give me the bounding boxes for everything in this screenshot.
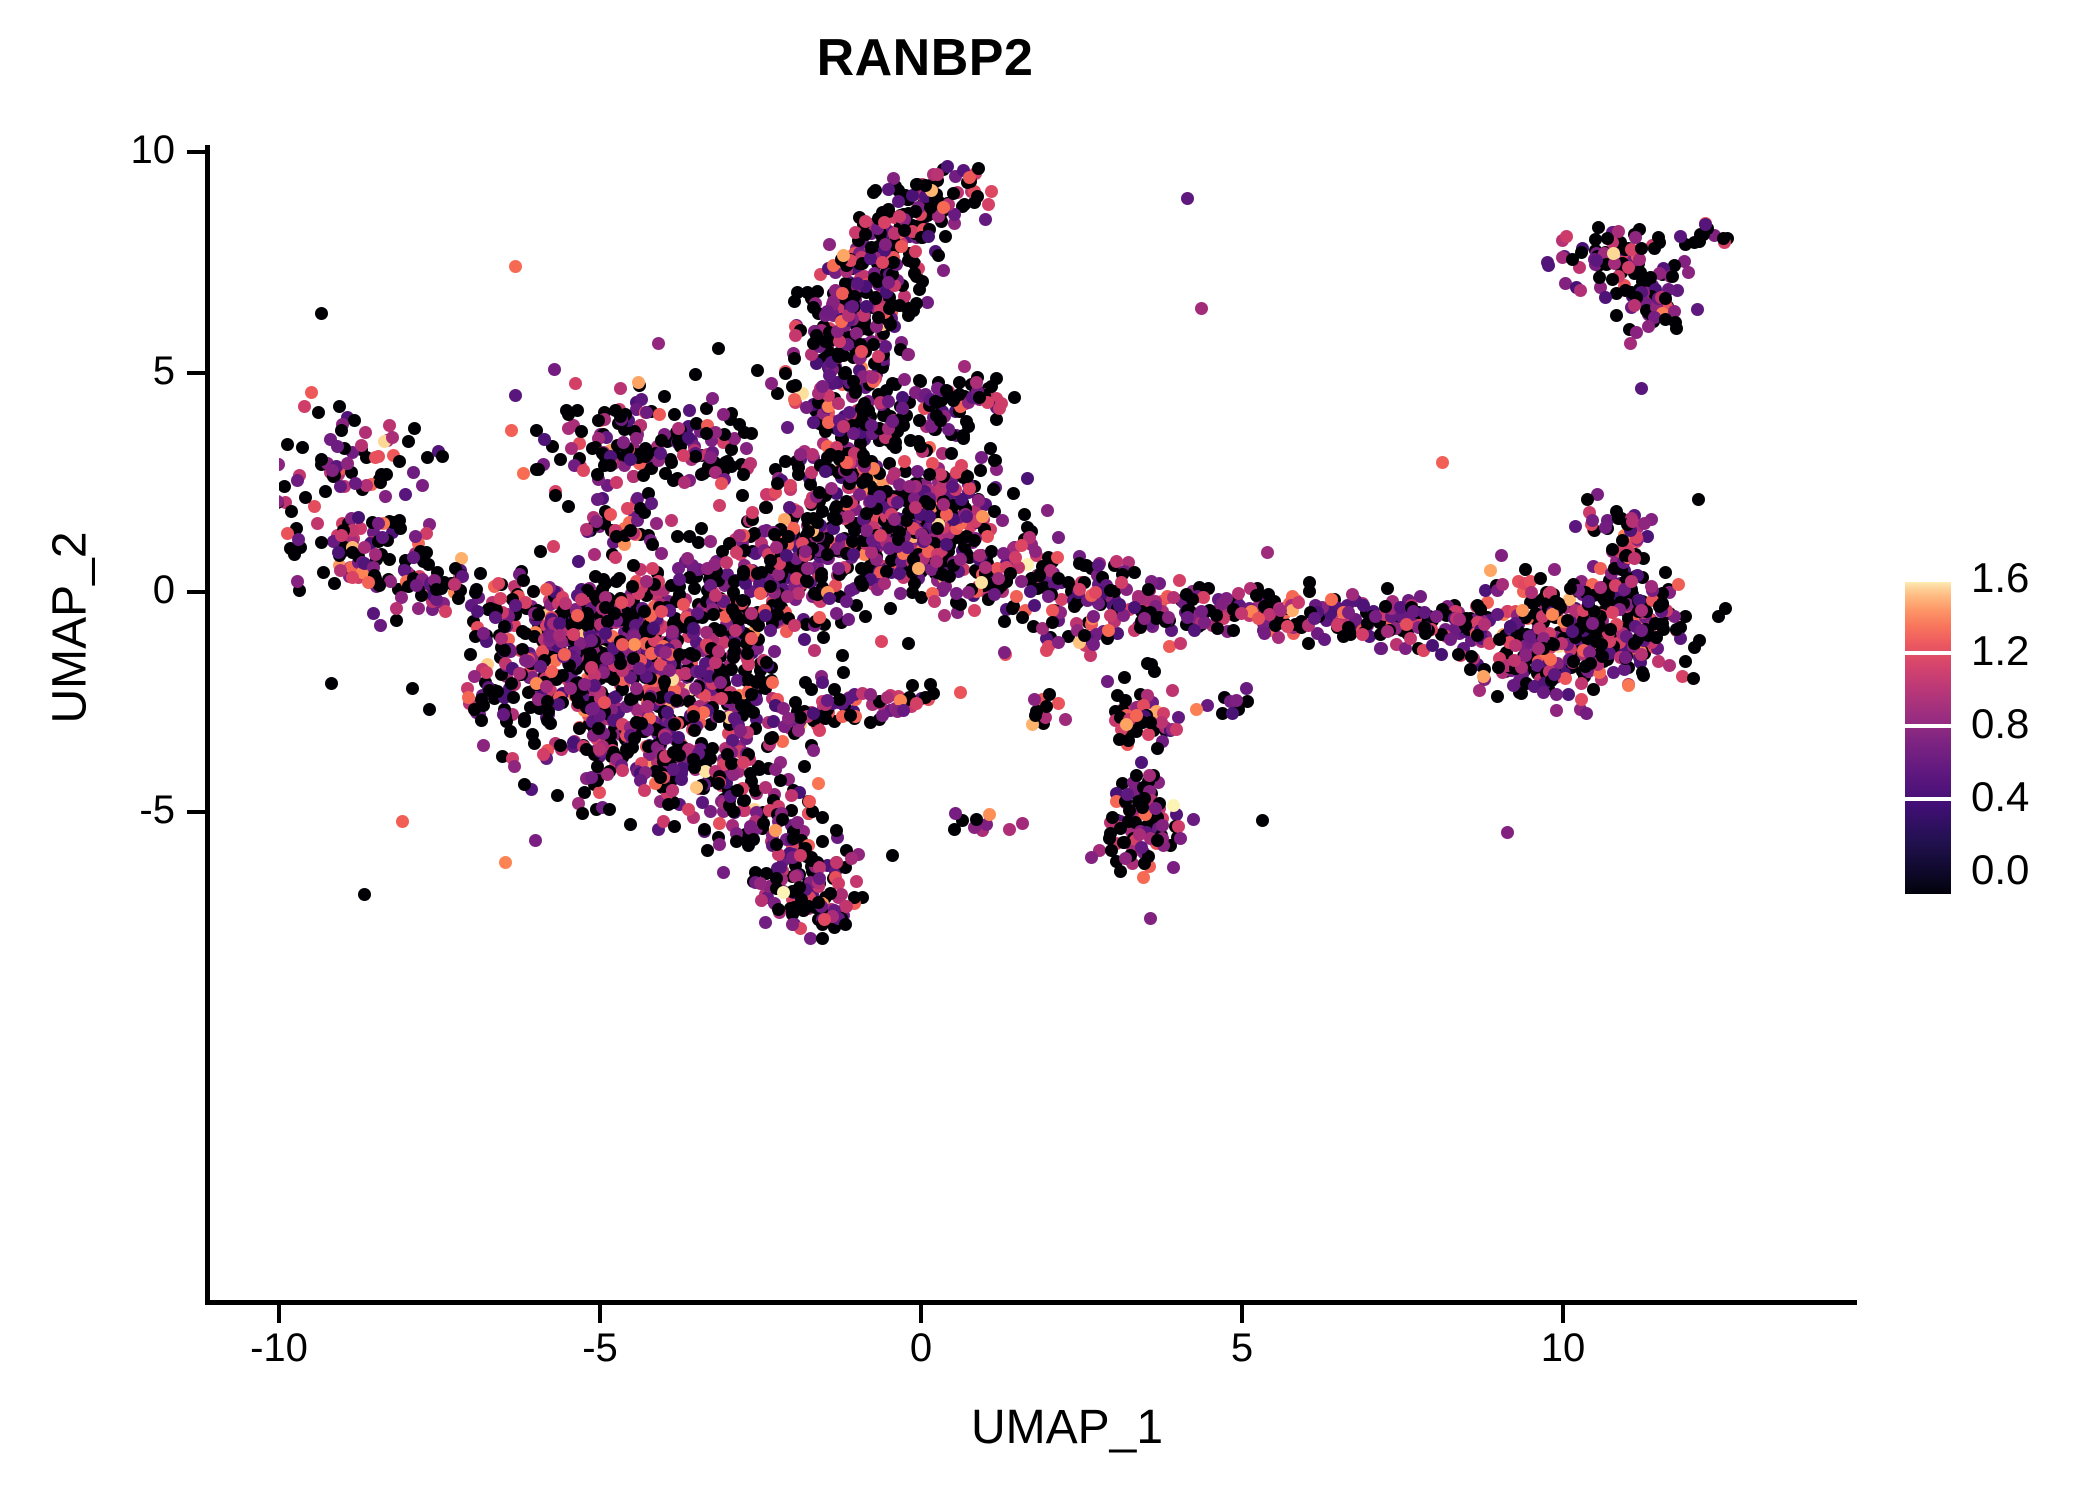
scatter-point (655, 605, 668, 618)
scatter-point (781, 421, 794, 434)
scatter-point (591, 493, 604, 506)
scatter-point (647, 622, 660, 635)
colorbar-label-1_6: 1.6 (1971, 554, 2029, 602)
scatter-point (830, 607, 843, 620)
scatter-point (1135, 756, 1148, 769)
scatter-point (690, 781, 703, 794)
scatter-point (335, 424, 348, 437)
scatter-point (315, 307, 328, 320)
scatter-point (372, 517, 385, 530)
scatter-point (919, 179, 932, 192)
scatter-point (661, 706, 674, 719)
scatter-point (957, 432, 970, 445)
scatter-point (798, 633, 811, 646)
scatter-point (937, 498, 950, 511)
scatter-point (993, 402, 1006, 415)
scatter-point (1130, 769, 1143, 782)
scatter-point (1292, 596, 1305, 609)
scatter-point (979, 561, 992, 574)
scatter-point (984, 442, 997, 455)
scatter-point (1173, 574, 1186, 587)
scatter-point (737, 568, 750, 581)
scatter-point (562, 422, 575, 435)
scatter-point (1156, 819, 1169, 832)
scatter-point (845, 852, 858, 865)
scatter-point (864, 716, 877, 729)
scatter-point (532, 463, 545, 476)
scatter-point (860, 524, 873, 537)
scatter-point (1692, 493, 1705, 506)
scatter-point (1115, 576, 1128, 589)
scatter-point (902, 348, 915, 361)
scatter-point (1495, 549, 1508, 562)
scatter-point (1663, 659, 1676, 672)
scatter-point (813, 724, 826, 737)
scatter-point (1548, 668, 1561, 681)
scatter-point (1008, 391, 1021, 404)
scatter-point (1624, 337, 1637, 350)
scatter-point (562, 500, 575, 513)
scatter-point (653, 408, 666, 421)
scatter-point (876, 256, 889, 269)
scatter-point (519, 627, 532, 640)
scatter-plot-area (279, 145, 1855, 1302)
scatter-point (1644, 271, 1657, 284)
scatter-point (348, 414, 361, 427)
scatter-point (1181, 611, 1194, 624)
scatter-point (812, 777, 825, 790)
scatter-point (1357, 599, 1370, 612)
scatter-point (821, 694, 834, 707)
scatter-point (390, 614, 403, 627)
scatter-point (923, 468, 936, 481)
scatter-point (436, 450, 449, 463)
scatter-point (753, 673, 766, 686)
scatter-point (591, 468, 604, 481)
scatter-point (755, 894, 768, 907)
scatter-point (312, 406, 325, 419)
scatter-point (1590, 254, 1603, 267)
scatter-point (1628, 299, 1641, 312)
scatter-point (627, 559, 640, 572)
scatter-point (939, 230, 952, 243)
scatter-point (575, 593, 588, 606)
scatter-point (793, 881, 806, 894)
scatter-point (317, 566, 330, 579)
scatter-point (416, 479, 429, 492)
scatter-point (518, 778, 531, 791)
scatter-point (869, 184, 882, 197)
scatter-point (624, 818, 637, 831)
scatter-point (777, 702, 790, 715)
scatter-point (898, 373, 911, 386)
scatter-point (1226, 707, 1239, 720)
scatter-point (1567, 655, 1580, 668)
scatter-point (668, 820, 681, 833)
scatter-point (983, 808, 996, 821)
scatter-point (1542, 259, 1555, 272)
scatter-point (788, 352, 801, 365)
scatter-point (567, 628, 580, 641)
scatter-point (794, 448, 807, 461)
scatter-point (462, 691, 475, 704)
scatter-point (1659, 566, 1672, 579)
scatter-point (1659, 292, 1672, 305)
scatter-point (1128, 566, 1141, 579)
scatter-point (1133, 828, 1146, 841)
scatter-point (1418, 606, 1431, 619)
scatter-point (974, 464, 987, 477)
scatter-point (783, 501, 796, 514)
scatter-point (972, 162, 985, 175)
scatter-point (1274, 604, 1287, 617)
scatter-point (659, 732, 672, 745)
scatter-point (328, 577, 341, 590)
scatter-point (475, 714, 488, 727)
scatter-point (839, 366, 852, 379)
scatter-point (1679, 655, 1692, 668)
scatter-point (819, 335, 832, 348)
colorbar-label-0_8: 0.8 (1971, 700, 2029, 748)
scatter-point (913, 374, 926, 387)
scatter-point (325, 677, 338, 690)
scatter-point (823, 592, 836, 605)
scatter-point (985, 545, 998, 558)
scatter-point (1188, 624, 1201, 637)
scatter-point (635, 717, 648, 730)
scatter-point (900, 514, 913, 527)
scatter-point (1102, 624, 1115, 637)
scatter-point (837, 666, 850, 679)
scatter-point (867, 338, 880, 351)
scatter-point (406, 682, 419, 695)
scatter-point (637, 469, 650, 482)
scatter-point (727, 651, 740, 664)
umap-feature-plot: RANBP2 10 5 0 -5 -10 -5 0 5 10 UMAP_1 UM… (0, 0, 2100, 1500)
scatter-point (771, 477, 784, 490)
scatter-point (652, 337, 665, 350)
colorbar-label-0_0: 0.0 (1971, 846, 2029, 894)
scatter-point (527, 585, 540, 598)
scatter-point (779, 367, 792, 380)
scatter-point (857, 449, 870, 462)
scatter-point (407, 466, 420, 479)
scatter-point (928, 595, 941, 608)
x-tick-mark-10 (1561, 1305, 1565, 1323)
scatter-point (859, 228, 872, 241)
scatter-point (707, 608, 720, 621)
scatter-point (839, 918, 852, 931)
scatter-point (981, 530, 994, 543)
y-tick-mark--5 (187, 810, 205, 814)
scatter-point (519, 654, 532, 667)
scatter-point (700, 427, 713, 440)
scatter-point (1118, 671, 1131, 684)
scatter-point (474, 567, 487, 580)
scatter-point (1581, 493, 1594, 506)
scatter-point (1612, 225, 1625, 238)
scatter-point (1430, 610, 1443, 623)
scatter-point (540, 583, 553, 596)
scatter-point (509, 260, 522, 273)
scatter-point (638, 605, 651, 618)
scatter-point (355, 439, 368, 452)
scatter-point (291, 474, 304, 487)
scatter-point (715, 477, 728, 490)
scatter-point (518, 712, 531, 725)
scatter-point (1606, 273, 1619, 286)
scatter-point (907, 256, 920, 269)
scatter-point (893, 210, 906, 223)
scatter-point (791, 816, 804, 829)
scatter-point (1656, 597, 1669, 610)
scatter-point (934, 414, 947, 427)
scatter-point (477, 739, 490, 752)
scatter-point (439, 605, 452, 618)
scatter-point (807, 416, 820, 429)
scatter-point (1691, 303, 1704, 316)
scatter-point (1419, 627, 1432, 640)
scatter-point (1303, 585, 1316, 598)
scatter-point (1465, 650, 1478, 663)
scatter-point (1144, 912, 1157, 925)
scatter-point (721, 748, 734, 761)
scatter-point (979, 213, 992, 226)
scatter-point (872, 311, 885, 324)
scatter-point (782, 530, 795, 543)
scatter-point (938, 609, 951, 622)
scatter-point (1318, 633, 1331, 646)
scatter-point (603, 803, 616, 816)
scatter-point (545, 665, 558, 678)
scatter-point (668, 408, 681, 421)
scatter-point (1687, 672, 1700, 685)
scatter-point (757, 817, 770, 830)
scatter-point (1130, 709, 1143, 722)
scatter-point (987, 483, 1000, 496)
scatter-point (892, 195, 905, 208)
scatter-point (1375, 642, 1388, 655)
scatter-point (1606, 606, 1619, 619)
scatter-point (408, 422, 421, 435)
scatter-point (315, 453, 328, 466)
scatter-point (367, 607, 380, 620)
x-tick-label--10: -10 (209, 1326, 349, 1371)
scatter-point (1491, 690, 1504, 703)
scatter-point (968, 534, 981, 547)
scatter-point (540, 680, 553, 693)
scatter-point (1092, 559, 1105, 572)
scatter-point (1114, 822, 1127, 835)
scatter-point (688, 724, 701, 737)
scatter-point (571, 404, 584, 417)
scatter-point (1040, 700, 1053, 713)
colorbar-tick-0_0 (1905, 894, 1951, 898)
scatter-point (714, 676, 727, 689)
scatter-point (1029, 709, 1042, 722)
scatter-point (886, 849, 899, 862)
scatter-point (617, 436, 630, 449)
scatter-point (1085, 851, 1098, 864)
scatter-point (1669, 316, 1682, 329)
scatter-point (865, 419, 878, 432)
colorbar-legend: 1.6 1.2 0.8 0.4 0.0 (1905, 578, 1951, 898)
scatter-point (1272, 631, 1285, 644)
scatter-point (1537, 686, 1550, 699)
scatter-point (549, 489, 562, 502)
scatter-point (1010, 590, 1023, 603)
scatter-point (958, 360, 971, 373)
scatter-point (968, 604, 981, 617)
scatter-point (610, 476, 623, 489)
scatter-point (1484, 564, 1497, 577)
scatter-point (950, 587, 963, 600)
scatter-point (1166, 684, 1179, 697)
scatter-point (813, 872, 826, 885)
scatter-point (958, 198, 971, 211)
scatter-point (614, 382, 627, 395)
scatter-point (1073, 557, 1086, 570)
scatter-point (740, 442, 753, 455)
scatter-point (927, 687, 940, 700)
scatter-point (319, 485, 332, 498)
scatter-point (640, 575, 653, 588)
scatter-point (840, 595, 853, 608)
scatter-point (593, 743, 606, 756)
scatter-point (1142, 728, 1155, 741)
scatter-point (464, 648, 477, 661)
scatter-point (859, 610, 872, 623)
scatter-point (598, 696, 611, 709)
scatter-point (1346, 588, 1359, 601)
scatter-point (1381, 625, 1394, 638)
scatter-point (948, 823, 961, 836)
scatter-point (823, 238, 836, 251)
scatter-point (865, 546, 878, 559)
scatter-point (499, 856, 512, 869)
scatter-point (808, 644, 821, 657)
scatter-point (358, 888, 371, 901)
scatter-point (1699, 218, 1712, 231)
scatter-point (1028, 599, 1041, 612)
scatter-point (800, 574, 813, 587)
colorbar-tick-1_2 (1905, 651, 1951, 655)
scatter-point (1610, 309, 1623, 322)
scatter-point (781, 590, 794, 603)
scatter-point (785, 789, 798, 802)
scatter-point (798, 760, 811, 773)
scatter-point (910, 697, 923, 710)
scatter-point (1167, 861, 1180, 874)
scatter-point (816, 835, 829, 848)
scatter-point (1261, 546, 1274, 559)
y-tick-mark-10 (187, 150, 205, 154)
scatter-point (971, 190, 984, 203)
scatter-point (376, 531, 389, 544)
scatter-point (876, 709, 889, 722)
scatter-point (641, 700, 654, 713)
scatter-point (1550, 704, 1563, 717)
scatter-point (878, 577, 891, 590)
scatter-point (677, 449, 690, 462)
scatter-point (891, 496, 904, 509)
scatter-point (1052, 636, 1065, 649)
x-axis-title: UMAP_1 (279, 1400, 1855, 1455)
scatter-point (585, 634, 598, 647)
scatter-point (766, 731, 779, 744)
scatter-point (1227, 624, 1240, 637)
scatter-point (746, 506, 759, 519)
scatter-point (929, 395, 942, 408)
scatter-point (507, 691, 520, 704)
scatter-point (747, 833, 760, 846)
scatter-point (760, 656, 773, 669)
scatter-point (902, 637, 915, 650)
scatter-point (504, 725, 517, 738)
scatter-point (554, 739, 567, 752)
scatter-point (945, 447, 958, 460)
scatter-point (609, 551, 622, 564)
scatter-point (730, 546, 743, 559)
scatter-point (727, 805, 740, 818)
scatter-point (379, 490, 392, 503)
scatter-point (1041, 504, 1054, 517)
scatter-point (666, 784, 679, 797)
page-title: RANBP2 (0, 28, 1850, 88)
scatter-point (1649, 617, 1662, 630)
scatter-point (837, 420, 850, 433)
scatter-point (1007, 487, 1020, 500)
scatter-point (1241, 695, 1254, 708)
scatter-point (1151, 834, 1164, 847)
scatter-point (281, 438, 294, 451)
scatter-point (807, 744, 820, 757)
scatter-point (937, 264, 950, 277)
scatter-point (1342, 606, 1355, 619)
scatter-point (374, 619, 387, 632)
colorbar-tick-1_6 (1905, 578, 1951, 582)
scatter-point (1582, 595, 1595, 608)
scatter-point (615, 596, 628, 609)
scatter-point (954, 686, 967, 699)
scatter-point (305, 386, 318, 399)
x-tick-label-10: 10 (1493, 1326, 1633, 1371)
scatter-point (760, 501, 773, 514)
scatter-point (1575, 677, 1588, 690)
scatter-point (836, 287, 849, 300)
scatter-point (1564, 582, 1577, 595)
colorbar-tick-0_4 (1905, 797, 1951, 801)
scatter-point (921, 296, 934, 309)
scatter-point (797, 904, 810, 917)
scatter-point (1137, 871, 1150, 884)
x-tick-mark--5 (598, 1305, 602, 1323)
scatter-point (575, 425, 588, 438)
scatter-point (1186, 593, 1199, 606)
scatter-point (823, 369, 836, 382)
scatter-point (801, 562, 814, 575)
scatter-point (733, 529, 746, 542)
scatter-point (907, 304, 920, 317)
scatter-point (1138, 612, 1151, 625)
y-tick-mark-0 (187, 590, 205, 594)
scatter-point (960, 415, 973, 428)
scatter-point (1574, 284, 1587, 297)
scatter-point (879, 340, 892, 353)
scatter-point (819, 465, 832, 478)
scatter-point (961, 470, 974, 483)
scatter-point (517, 574, 530, 587)
